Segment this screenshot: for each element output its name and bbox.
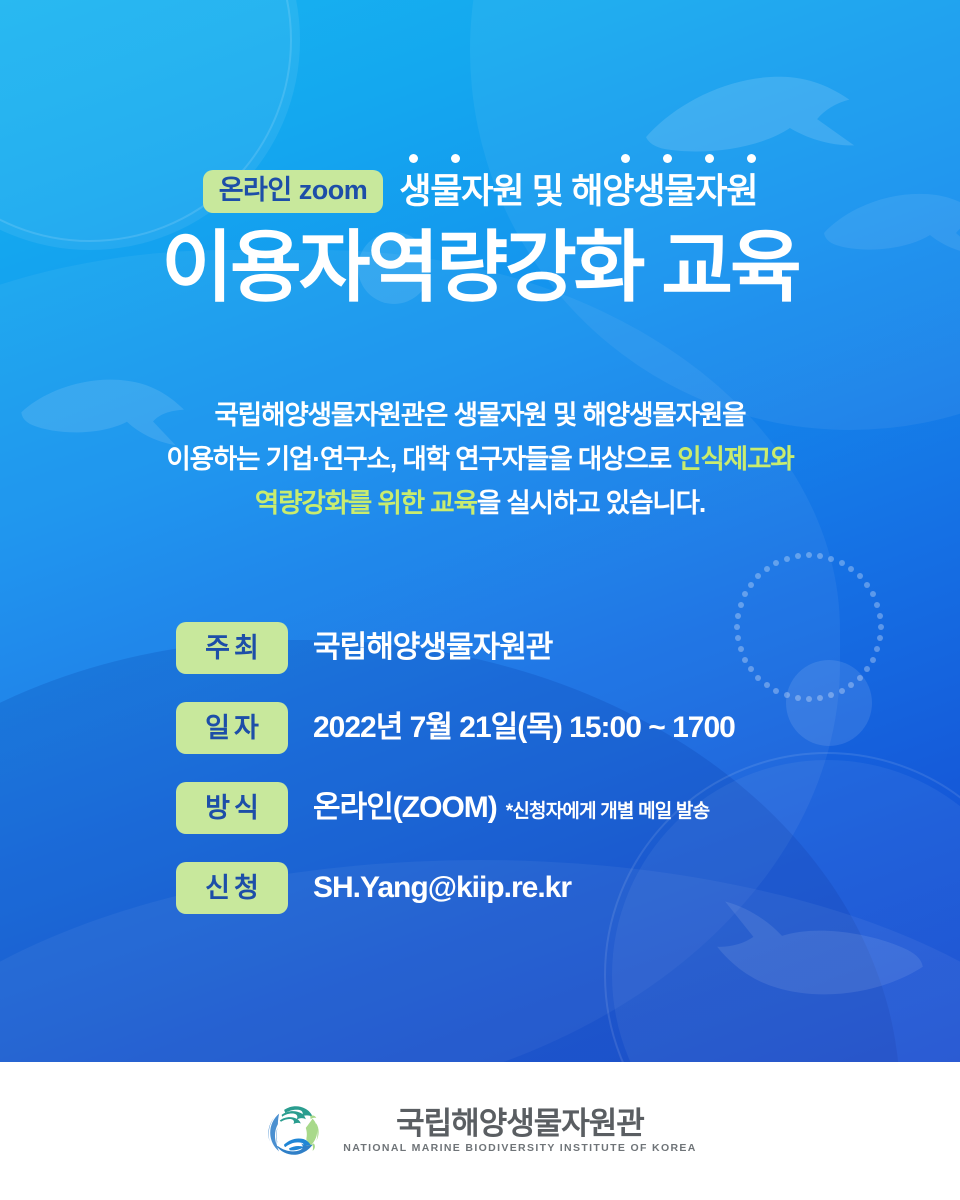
description-line-1-text: 국립해양생물자원관은 생물자원 및 해양생물자원을 <box>215 400 746 430</box>
emphasis-dots <box>399 154 757 166</box>
detail-row-method: 방식 온라인(ZOOM) *신청자에게 개별 메일 발송 <box>176 778 916 838</box>
poster-background: 온라인 zoom 생물자원 및 해양생물자원 이용자역량강화 교육 국립해양생물… <box>0 0 960 1062</box>
description-line-2-text: 이용하는 기업·연구소, 대학 연구자들을 대상으로 <box>166 444 677 474</box>
detail-value-date: 2022년 7월 21일(목) 15:00 ~ 1700 <box>313 713 735 743</box>
footer-org-name-en: NATIONAL MARINE BIODIVERSITY INSTITUTE O… <box>343 1143 696 1154</box>
detail-value-method: 온라인(ZOOM) *신청자에게 개별 메일 발송 <box>313 793 709 823</box>
detail-row-date: 일자 2022년 7월 21일(목) 15:00 ~ 1700 <box>176 698 916 758</box>
footer-logo-text: 국립해양생물자원관 NATIONAL MARINE BIODIVERSITY I… <box>343 1108 696 1154</box>
detail-value-apply[interactable]: SH.Yang@kiip.re.kr <box>313 873 571 903</box>
description-line-3: 역량강화를 위한 교육을 실시하고 있습니다. <box>0 481 960 525</box>
description-highlight-1: 인식제고와 <box>677 444 793 474</box>
poster-header: 온라인 zoom 생물자원 및 해양생물자원 이용자역량강화 교육 <box>0 170 960 309</box>
title-row: 온라인 zoom 생물자원 및 해양생물자원 <box>0 170 960 213</box>
poster-footer: 국립해양생물자원관 NATIONAL MARINE BIODIVERSITY I… <box>0 1062 960 1200</box>
detail-label-host: 주최 <box>176 622 288 674</box>
poster-subtitle: 생물자원 및 해양생물자원 <box>399 174 757 209</box>
description-highlight-2: 역량강화를 위한 교육 <box>255 488 477 518</box>
poster-subtitle-text: 생물자원 및 해양생물자원 <box>399 172 757 211</box>
description-line-2: 이용하는 기업·연구소, 대학 연구자들을 대상으로 인식제고와 <box>0 437 960 481</box>
detail-label-apply: 신청 <box>176 862 288 914</box>
detail-label-date: 일자 <box>176 702 288 754</box>
detail-note-method: *신청자에게 개별 메일 발송 <box>506 802 710 821</box>
detail-row-apply: 신청 SH.Yang@kiip.re.kr <box>176 858 916 918</box>
event-details-list: 주최 국립해양생물자원관 일자 2022년 7월 21일(목) 15:00 ~ … <box>176 618 916 918</box>
poster-headline: 이용자역량강화 교육 <box>0 227 960 309</box>
detail-value-date-text: 2022년 7월 21일(목) 15:00 ~ 1700 <box>313 713 735 743</box>
detail-value-host-text: 국립해양생물자원관 <box>313 633 552 663</box>
detail-row-host: 주최 국립해양생물자원관 <box>176 618 916 678</box>
detail-value-apply-email[interactable]: SH.Yang@kiip.re.kr <box>313 873 571 903</box>
poster-description: 국립해양생물자원관은 생물자원 및 해양생물자원을 이용하는 기업·연구소, 대… <box>0 393 960 525</box>
marine-biodiversity-emblem-icon <box>263 1100 325 1162</box>
detail-label-method: 방식 <box>176 782 288 834</box>
detail-value-method-text: 온라인(ZOOM) <box>313 793 497 823</box>
description-line-3-text: 을 실시하고 있습니다. <box>477 488 705 518</box>
description-line-1: 국립해양생물자원관은 생물자원 및 해양생물자원을 <box>0 393 960 437</box>
detail-value-host: 국립해양생물자원관 <box>313 633 552 663</box>
footer-org-name-kr: 국립해양생물자원관 <box>396 1108 644 1139</box>
online-zoom-badge: 온라인 zoom <box>203 170 384 213</box>
poster-root: 온라인 zoom 생물자원 및 해양생물자원 이용자역량강화 교육 국립해양생물… <box>0 0 960 1200</box>
